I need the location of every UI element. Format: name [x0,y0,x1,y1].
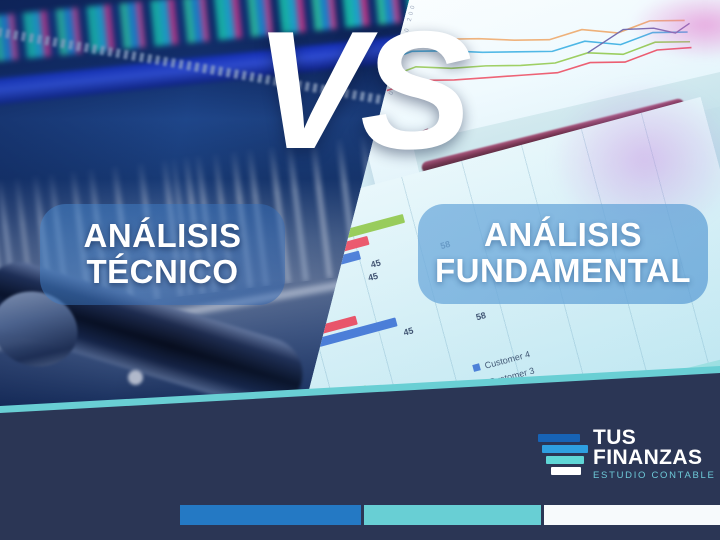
logo-bar-1 [538,434,580,442]
technical-analysis-label: ANÁLISIS TÉCNICO [40,204,285,305]
logo-text: TUS FINANZAS ESTUDIO CONTABLE [593,428,716,481]
vs-label: VS [254,6,466,174]
logo-name-line1: TUS [593,428,716,448]
brand-logo[interactable]: TUS FINANZAS ESTUDIO CONTABLE [538,428,716,481]
progress-segment-blue [180,505,361,525]
magenta-light-flare [630,0,720,60]
slide-canvas: Summary 0 50 100 150 200 250 Antarctica … [0,0,720,540]
progress-bar [180,505,720,525]
logo-bars-icon [538,434,584,475]
fundamental-label-line2: FUNDAMENTAL [422,253,704,289]
fundamental-label-line1: ANÁLISIS [484,216,642,253]
logo-tagline: ESTUDIO CONTABLE [593,470,716,481]
logo-name-line2: FINANZAS [593,448,716,468]
fundamental-analysis-label: ANÁLISIS FUNDAMENTAL [418,204,708,304]
logo-bar-4 [551,467,581,475]
logo-bar-3 [546,456,584,464]
progress-segment-white [544,505,720,525]
technical-label-line1: ANÁLISIS [83,217,241,254]
technical-label-line2: TÉCNICO [46,254,279,290]
progress-segment-teal [364,505,541,525]
logo-bar-2 [542,445,588,453]
